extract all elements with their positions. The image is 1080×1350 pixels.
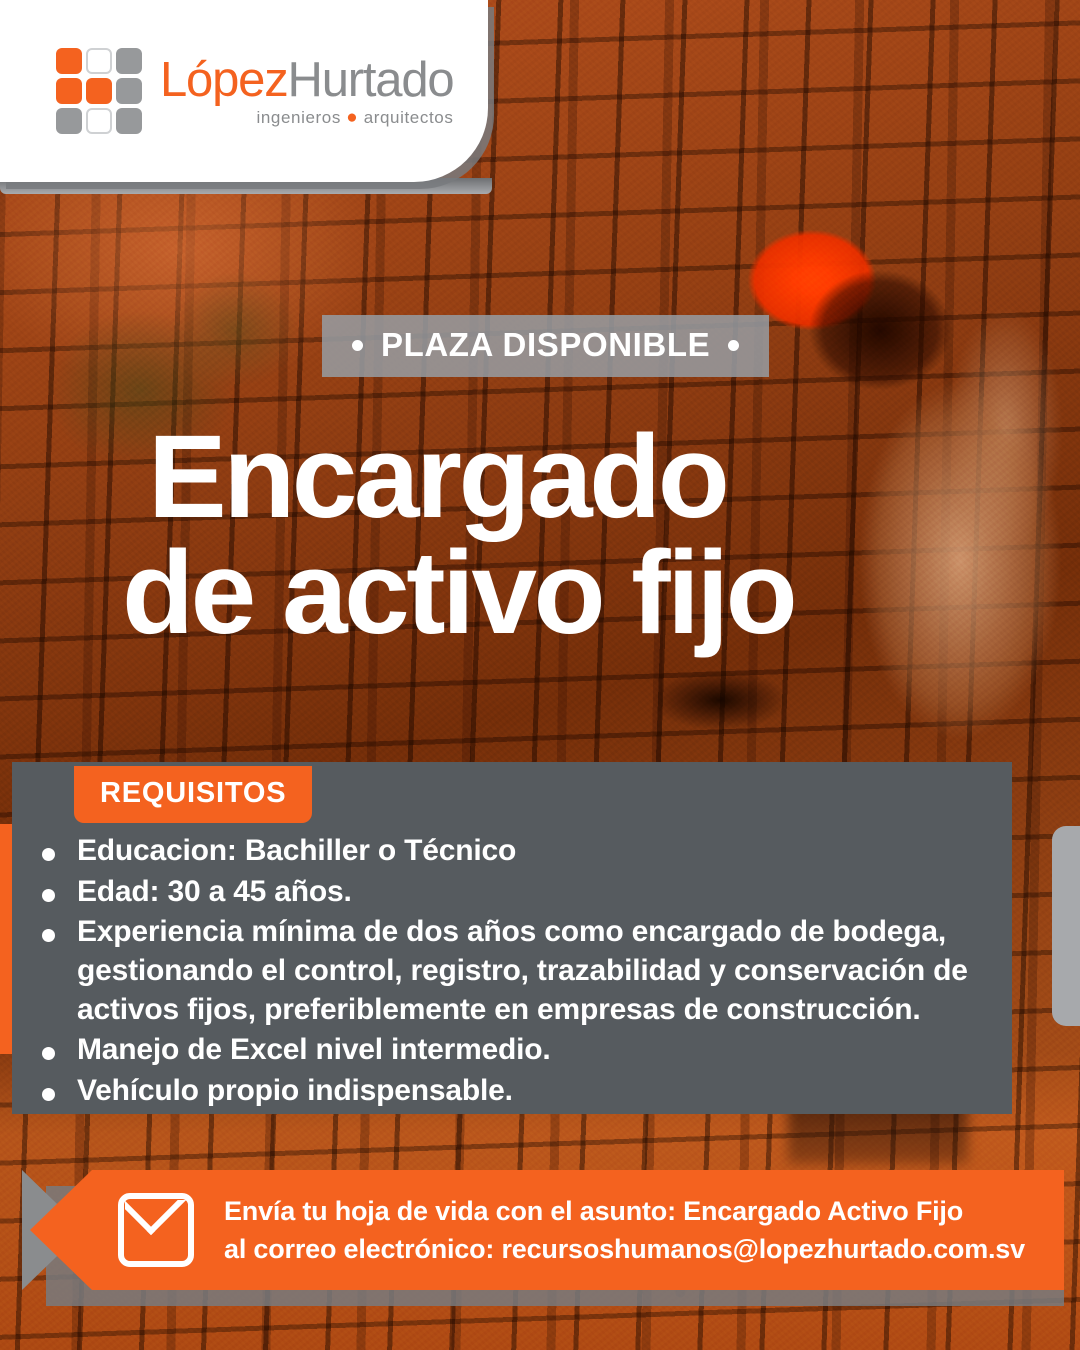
status-badge-label: PLAZA DISPONIBLE: [381, 326, 710, 364]
logo-cell-1: [56, 48, 82, 74]
requirement-text: Experiencia mínima de dos años como enca…: [77, 913, 1014, 1029]
envelope-icon: [118, 1193, 194, 1267]
logo-cell-9: [116, 108, 142, 134]
list-bullet-icon: [42, 1047, 55, 1060]
requirements-section-label: REQUISITOS: [74, 766, 312, 823]
requirement-text: Edad: 30 a 45 años.: [77, 873, 1014, 912]
brand-logo: LópezHurtado ingenieros ● arquitectos: [56, 48, 453, 134]
brand-name-lopez: López: [160, 53, 288, 107]
logo-cell-3: [116, 48, 142, 74]
logo-cell-8: [86, 108, 112, 134]
brand-logo-card: LópezHurtado ingenieros ● arquitectos: [0, 0, 488, 182]
list-bullet-icon: [42, 1088, 55, 1101]
nine-square-grid-logo-icon: [56, 48, 142, 134]
contact-line-1: Envía tu hoja de vida con el asunto: Enc…: [224, 1192, 1025, 1230]
list-bullet-icon: [42, 848, 55, 861]
list-bullet-icon: [42, 929, 55, 942]
logo-cell-5: [86, 78, 112, 104]
brand-name: LópezHurtado: [160, 56, 453, 105]
contact-instructions: Envía tu hoja de vida con el asunto: Enc…: [224, 1192, 1025, 1269]
job-posting-poster: LópezHurtado ingenieros ● arquitectos PL…: [0, 0, 1080, 1350]
status-badge: PLAZA DISPONIBLE: [322, 315, 769, 377]
requirement-text: Vehículo propio indispensable.: [77, 1072, 1014, 1111]
list-bullet-icon: [42, 889, 55, 902]
logo-cell-2: [86, 48, 112, 74]
requirements-list: Educacion: Bachiller o Técnico Edad: 30 …: [34, 832, 1014, 1113]
tagline-bullet-icon: ●: [346, 107, 358, 128]
envelope-flap: [125, 1200, 187, 1262]
list-item: Edad: 30 a 45 años.: [34, 873, 1014, 912]
list-item: Experiencia mínima de dos años como enca…: [34, 913, 1014, 1029]
tagline-ingenieros: ingenieros: [257, 108, 341, 127]
list-item: Manejo de Excel nivel intermedio.: [34, 1031, 1014, 1070]
logo-cell-4: [56, 78, 82, 104]
contact-banner: Envía tu hoja de vida con el asunto: Enc…: [30, 1170, 1064, 1290]
tagline-arquitectos: arquitectos: [364, 108, 454, 127]
logo-cell-7: [56, 108, 82, 134]
logo-cell-6: [116, 78, 142, 104]
requirement-text: Manejo de Excel nivel intermedio.: [77, 1031, 1014, 1070]
brand-tagline: ingenieros ● arquitectos: [257, 108, 454, 127]
list-item: Educacion: Bachiller o Técnico: [34, 832, 1014, 871]
brand-name-hurtado: Hurtado: [288, 53, 454, 107]
job-title-line2: de activo fijo: [122, 536, 1028, 652]
job-title: Encargado de activo fijo: [148, 420, 1028, 651]
job-title-line1: Encargado: [148, 411, 726, 543]
requirement-text: Educacion: Bachiller o Técnico: [77, 832, 1014, 871]
badge-bullet-left-icon: [352, 340, 363, 351]
badge-bullet-right-icon: [728, 340, 739, 351]
brand-wordmark: LópezHurtado ingenieros ● arquitectos: [160, 56, 453, 127]
list-item: Vehículo propio indispensable.: [34, 1072, 1014, 1111]
requirements-accent-right: [1052, 826, 1080, 1026]
contact-line-2[interactable]: al correo electrónico: recursoshumanos@l…: [224, 1230, 1025, 1268]
